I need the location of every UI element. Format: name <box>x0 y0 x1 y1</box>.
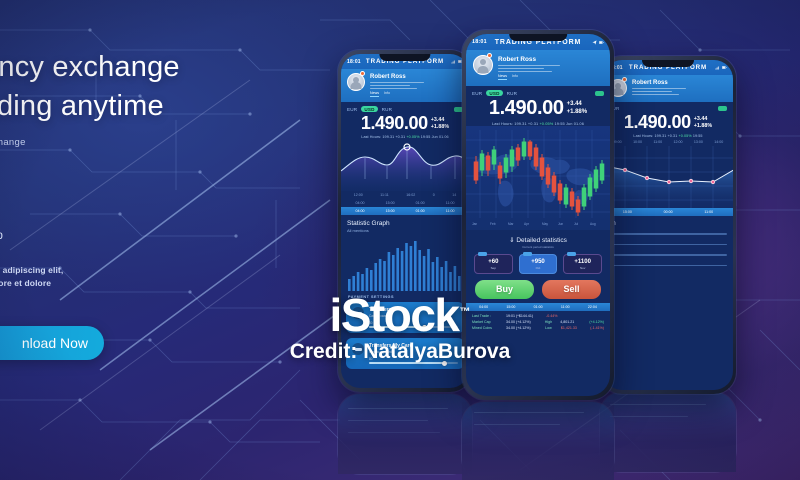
sec-tick-2: 01:00 <box>416 201 425 205</box>
status-icons <box>592 40 604 45</box>
hero-subline: ons for exchange <box>0 137 266 148</box>
battery-icon <box>599 40 604 45</box>
ctick-3[interactable]: 11:00 <box>561 305 570 309</box>
payment-settings-header: PAYMENT SETTINGS <box>341 291 469 302</box>
hero-body-text: , consectetur adipiscing elit, didunt ut… <box>0 264 266 290</box>
user-name: Robert Ross <box>632 80 727 86</box>
card-tag <box>523 252 532 256</box>
wave-tick-2: 16:02 <box>406 193 415 197</box>
signal-icon <box>715 65 720 70</box>
price-value: 1.490.00 <box>624 112 691 133</box>
phone-right-screen[interactable]: 18:01 TRADING PLATFORM Robert Ross <box>603 60 733 390</box>
card-icon <box>352 307 364 319</box>
user-meta-bars <box>632 88 727 95</box>
row-value-3: (-1.41%) <box>590 326 604 330</box>
svg-text:Jul: Jul <box>574 222 578 226</box>
sec-tick-1: 15:00 <box>386 201 395 205</box>
ctick-0[interactable]: 04:00 <box>479 305 488 309</box>
currency-usd[interactable]: USD <box>361 106 377 113</box>
payment-row-transfers[interactable]: Transfers Card to card 50 <box>346 302 464 333</box>
price-delta: +3.44 +1.88% <box>431 113 449 131</box>
user-name: Robert Ross <box>498 56 603 63</box>
svg-text:Feb: Feb <box>490 222 496 226</box>
quote-row: 1.490.00 +3.44 +1.88% <box>341 113 469 134</box>
stat-card-oct[interactable]: +950 Oct <box>519 254 558 274</box>
hero-copy: urrency exchange , trading anytime ons f… <box>0 48 266 290</box>
quote-row: 1.490.00 +3.44 +1.88% <box>466 97 610 120</box>
battery-icon <box>722 65 727 70</box>
row-value-3: (+4.12%) <box>589 320 604 324</box>
stat-cards[interactable]: +60 Sep +950 Oct +1100 Nov <box>466 249 610 274</box>
right-list-rows <box>603 227 733 266</box>
svg-text:May: May <box>542 222 548 226</box>
phone-left-screen[interactable]: 18:01 TRADING PLATFORM Robert Ross News <box>341 54 469 388</box>
price-delta-abs: +3.44 <box>431 117 445 123</box>
act-tick-3[interactable]: 11:00 <box>446 209 455 213</box>
row-value-2: 4,801.21 <box>560 320 589 324</box>
svg-text:Apr: Apr <box>524 222 530 226</box>
price-delta-abs: +3.44 <box>567 101 582 107</box>
card-icon <box>352 343 364 355</box>
right-active-time-axis[interactable]: 15:00 00:00 11:00 <box>603 208 733 216</box>
act-tick-2[interactable]: 01:00 <box>416 209 425 213</box>
table-row: Last Trade : 19:01 (^$144.41) -0.44% <box>472 314 604 318</box>
user-bar[interactable]: Robert Ross News Info <box>341 69 469 102</box>
row-value-1: 19:01 (^$144.41) <box>506 314 546 318</box>
stat-value: +60 <box>477 259 510 265</box>
currency-usd[interactable]: USD <box>486 90 502 97</box>
right-graph-title: ph <box>603 216 733 227</box>
list-item <box>609 244 727 246</box>
tab-info[interactable]: Info <box>512 74 518 80</box>
currency-rur[interactable]: RUR <box>382 107 393 112</box>
status-icons <box>715 65 727 70</box>
tab-news[interactable]: News <box>370 91 379 97</box>
ctick-2[interactable]: 01:00 <box>534 305 543 309</box>
user-meta-bars <box>370 82 463 89</box>
secondary-time-axis: 04:00 15:00 01:00 11:00 <box>341 199 469 207</box>
payment-row-transfers-my-card[interactable]: Transfers My Card Card to my card 80 <box>346 338 464 369</box>
list-item <box>609 254 727 256</box>
signal-icon <box>451 59 456 64</box>
svg-text:Aug: Aug <box>590 222 596 226</box>
currency-action-chip[interactable] <box>718 106 727 111</box>
payment-slider[interactable] <box>369 326 458 328</box>
price-delta: +3.44 +1.88% <box>694 112 712 130</box>
card-tag <box>478 252 487 256</box>
statistic-graph-title: Statistic Graph <box>341 215 469 227</box>
row-label: Mined Coins <box>472 326 506 330</box>
tab-news[interactable]: News <box>498 74 507 80</box>
currency-eur[interactable]: EUR <box>472 91 482 96</box>
rtick-4: 13:00 <box>694 140 703 144</box>
price-wave-chart <box>341 139 469 191</box>
lorem-line-2: didunt ut labore et dolore <box>0 277 266 290</box>
ctick-1[interactable]: 15:00 <box>506 305 515 309</box>
payment-value: 50 <box>369 321 458 325</box>
rtick-1: 10:00 <box>633 140 642 144</box>
right-top-time-axis: 09:00 10:00 11:00 12:00 13:00 14:00 <box>603 138 733 146</box>
phone-center: 18:01 TRADING PLATFORM Robert Ross <box>462 30 614 400</box>
right-trend-chart <box>603 146 733 208</box>
phone-center-screen[interactable]: 18:01 TRADING PLATFORM Robert Ross <box>466 34 610 396</box>
currency-rur[interactable]: RUR <box>507 91 518 96</box>
wave-tick-1: 11:11 <box>380 193 388 197</box>
payment-desc: Card to card <box>369 314 458 318</box>
row-value-2: -0.44% <box>546 314 557 318</box>
last-hours-value: 199.31 <box>655 134 667 138</box>
sec-tick-0: 04:00 <box>356 201 365 205</box>
price-delta-pct: +1.88% <box>431 124 449 130</box>
card-tag <box>567 252 576 256</box>
list-item <box>609 233 727 235</box>
notification-badge <box>622 77 627 82</box>
wave-tick-0: 12:00 <box>354 193 363 197</box>
user-tabs[interactable]: News Info <box>370 91 463 97</box>
rtick-3: 12:00 <box>674 140 683 144</box>
row-value-1: 34.00 (+4.12%) <box>506 326 545 330</box>
act-tick-0[interactable]: 04:00 <box>356 209 365 213</box>
headline-line-1: urrency exchange <box>0 51 180 83</box>
user-bar[interactable]: Robert Ross <box>603 75 733 102</box>
notch <box>642 60 694 67</box>
user-meta-bars <box>498 65 603 72</box>
statistic-bar-chart <box>341 233 469 291</box>
wave-tick-4: 14 <box>452 193 456 197</box>
rtick-5: 14:00 <box>714 140 723 144</box>
price-delta-pct: +1.88% <box>567 109 588 115</box>
stat-label: Oct <box>522 266 555 270</box>
last-hours-time: 19:55 <box>693 134 703 138</box>
stat-label: Nov <box>566 266 599 270</box>
ract-2[interactable]: 11:00 <box>704 210 713 214</box>
tab-info[interactable]: Info <box>384 91 390 97</box>
user-tabs[interactable]: News Info <box>498 74 603 80</box>
user-name: Robert Ross <box>370 74 463 80</box>
poster-canvas: urrency exchange , trading anytime ons f… <box>0 0 800 480</box>
payment-name: Transfers <box>369 307 458 313</box>
stat-card-nov[interactable]: +1100 Nov <box>563 254 602 274</box>
headline-line-2: , trading anytime <box>0 87 266 126</box>
detailed-statistics-title: ⇓ Detailed statistics <box>466 230 610 245</box>
currency-eur[interactable]: EUR <box>347 107 357 112</box>
last-hours-label: Last Hours: <box>633 134 653 138</box>
row-label-2: High <box>545 320 561 324</box>
row-label-2: Low <box>545 326 561 330</box>
svg-text:Jan: Jan <box>472 222 477 226</box>
notification-badge <box>487 53 492 58</box>
price-delta: +3.44 +1.88% <box>567 97 588 116</box>
price-delta-abs: +3.44 <box>694 116 708 122</box>
wave-tick-3: 0 <box>433 193 435 197</box>
trade-actions[interactable]: Buy Sell <box>466 274 610 303</box>
ract-1[interactable]: 00:00 <box>664 210 673 214</box>
payment-slider[interactable] <box>369 362 458 364</box>
row-value-1: 34.00 (+4.12%) <box>506 320 545 324</box>
phone-right: 18:01 TRADING PLATFORM Robert Ross <box>600 56 736 394</box>
candlestick-chart: JanFebMar AprMayJun JulAug <box>466 126 610 230</box>
buy-button[interactable]: Buy <box>475 280 534 299</box>
market-table: Last Trade : 19:01 (^$144.41) -0.44% Mar… <box>466 311 610 330</box>
notch <box>509 34 567 41</box>
act-tick-1[interactable]: 15:00 <box>386 209 395 213</box>
last-hours-abs: +0.31 <box>668 134 678 138</box>
currency-switcher[interactable]: RUR <box>603 102 733 112</box>
row-label: Last Trade : <box>472 314 506 318</box>
quote-row: 1.490.00 +3.44 +1.88% <box>603 112 733 133</box>
payment-desc: Card to my card <box>369 350 458 354</box>
ctick-4[interactable]: 22:04 <box>588 305 597 309</box>
currency-action-chip[interactable] <box>595 91 604 96</box>
price-value: 1.490.00 <box>361 113 428 134</box>
stat-value: +950 <box>522 259 555 265</box>
list-item <box>609 265 727 267</box>
row-value-2: $1,421.33 <box>561 326 590 330</box>
table-row: Market Cap 34.00 (+4.12%) High 4,801.21 … <box>472 320 604 324</box>
sell-button[interactable]: Sell <box>542 280 601 299</box>
ract-0[interactable]: 15:00 <box>623 210 632 214</box>
avatar <box>473 55 493 75</box>
download-arrow-icon: ⇓ <box>509 237 514 244</box>
page-title: urrency exchange , trading anytime <box>0 48 266 125</box>
send-icon[interactable] <box>592 40 597 45</box>
stat-label: Sep <box>477 266 510 270</box>
rtick-2: 11:00 <box>653 140 662 144</box>
center-time-axis[interactable]: 04:00 15:00 01:00 11:00 22:04 <box>466 303 610 311</box>
user-bar[interactable]: Robert Ross News Info <box>466 50 610 86</box>
svg-text:Jun: Jun <box>558 222 563 226</box>
phone-left: 18:01 TRADING PLATFORM Robert Ross News <box>338 50 472 392</box>
download-now-button[interactable]: nload Now <box>0 326 104 360</box>
svg-text:Mar: Mar <box>508 222 514 226</box>
currency-switcher[interactable]: EUR USD RUR <box>466 86 610 98</box>
table-row: Mined Coins 34.00 (+4.12%) Low $1,421.33… <box>472 326 604 330</box>
wave-time-axis: 12:00 11:11 16:02 0 14 <box>341 191 469 199</box>
lorem-line-1: , consectetur adipiscing elit, <box>0 264 266 277</box>
last-hours-pct: +0.05% <box>679 134 692 138</box>
sec-tick-3: 11:00 <box>446 201 455 205</box>
uiux-subtitle: Mobile App <box>0 230 266 242</box>
rtick-0: 09:00 <box>613 140 622 144</box>
notch <box>379 54 430 61</box>
uiux-title: I/UX <box>0 196 266 227</box>
notification-badge <box>360 71 365 76</box>
price-value: 1.490.00 <box>489 97 564 120</box>
payment-name: Transfers My Card <box>369 343 458 349</box>
currency-switcher[interactable]: EUR USD RUR <box>341 102 469 114</box>
active-time-axis[interactable]: 04:00 15:00 01:00 11:00 <box>341 207 469 215</box>
row-label: Market Cap <box>472 320 506 324</box>
detailed-statistics-label: Detailed statistics <box>516 237 567 244</box>
price-delta-pct: +1.88% <box>694 123 712 129</box>
stat-card-sep[interactable]: +60 Sep <box>474 254 513 274</box>
stat-value: +1100 <box>566 259 599 265</box>
